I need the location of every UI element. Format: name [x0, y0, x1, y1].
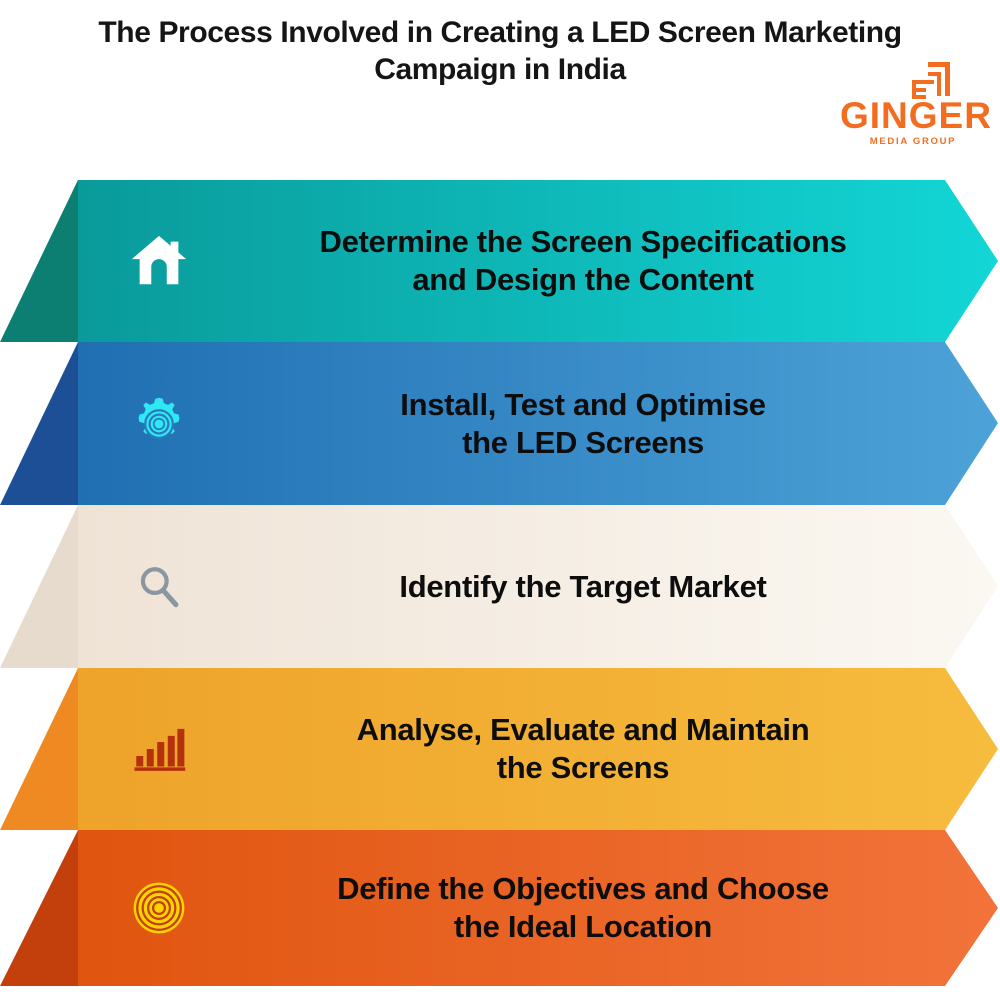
step-5-label: Define the Objectives and Choose the Ide…	[203, 870, 963, 946]
step-3-label: Identify the Target Market	[203, 567, 963, 607]
step-2-label: Install, Test and Optimise the LED Scree…	[203, 386, 963, 462]
process-step-5[interactable]: Define the Objectives and Choose the Ide…	[0, 830, 1000, 986]
process-step-2[interactable]: Install, Test and Optimise the LED Scree…	[0, 342, 1000, 505]
step-1-label: Determine the Screen Specifications and …	[203, 223, 963, 299]
process-step-3[interactable]: Identify the Target Market	[0, 505, 1000, 668]
process-step-1[interactable]: Determine the Screen Specifications and …	[0, 180, 1000, 342]
bar-chart-icon	[122, 712, 196, 786]
process-step-4[interactable]: Analyse, Evaluate and Maintain the Scree…	[0, 668, 1000, 830]
process-steps-list: Determine the Screen Specifications and …	[0, 0, 1000, 1000]
magnifier-icon	[122, 550, 196, 624]
gear-icon	[122, 387, 196, 461]
house-icon	[122, 224, 196, 298]
step-4-label: Analyse, Evaluate and Maintain the Scree…	[203, 711, 963, 787]
bullseye-icon	[122, 871, 196, 945]
